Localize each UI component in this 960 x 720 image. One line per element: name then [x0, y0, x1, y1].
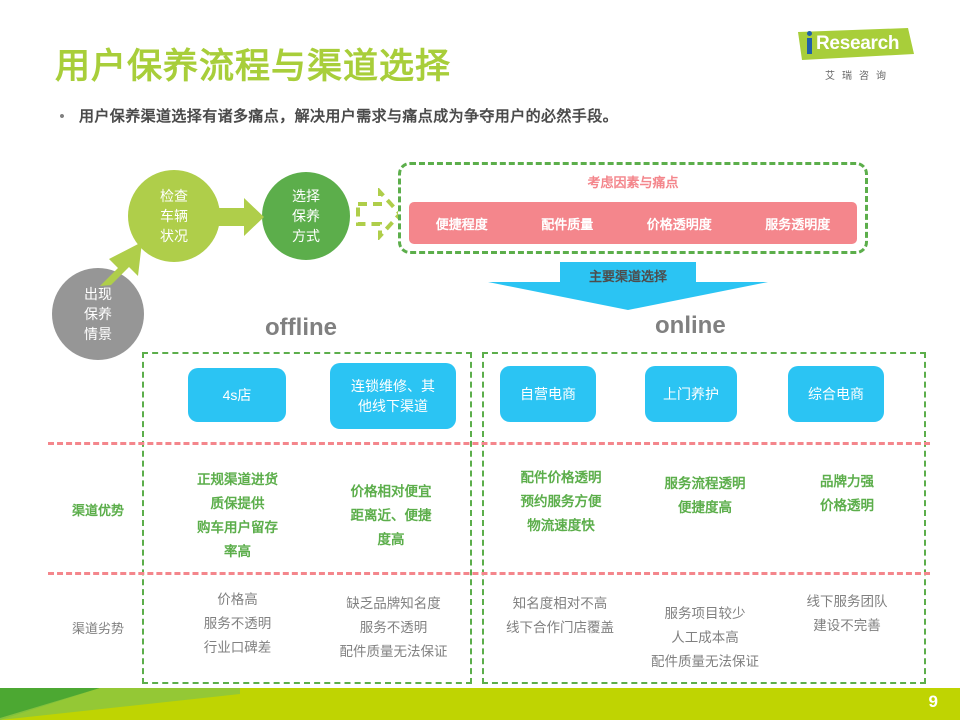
row-divider-advantages-top [48, 442, 930, 445]
consideration-factors-box: 考虑因素与痛点 便捷程度 配件质量 价格透明度 服务透明度 [398, 162, 868, 254]
subtitle-text: 用户保养渠道选择有诸多痛点，解决用户需求与痛点成为争夺用户的必然手段。 [79, 106, 618, 128]
factor-item: 便捷程度 [436, 214, 488, 233]
disadvantage-cell: 线下服务团队建设不完善 [772, 590, 922, 638]
arrow-dashed-right-icon [356, 188, 402, 240]
advantage-cell: 正规渠道进货质保提供购车用户留存率高 [160, 468, 315, 564]
row-label-disadvantages: 渠道劣势 [58, 618, 138, 637]
page-title: 用户保养流程与渠道选择 [55, 38, 451, 89]
channel-box-4s[interactable]: 4s店 [188, 368, 286, 422]
channel-box-comprehensive-label: 综合电商 [808, 384, 864, 404]
channel-box-chain[interactable]: 连锁维修、其他线下渠道 [330, 363, 456, 429]
advantage-cell: 品牌力强价格透明 [772, 470, 922, 518]
factor-item: 价格透明度 [647, 214, 712, 233]
factor-item: 服务透明度 [765, 214, 830, 233]
advantage-cell: 服务流程透明便捷度高 [630, 472, 780, 520]
logo-chinese-name: 艾瑞咨询 [798, 67, 914, 82]
consideration-factors-title: 考虑因素与痛点 [401, 172, 865, 191]
logo-i-stem-icon [807, 38, 812, 54]
main-channel-arrow-label: 主要渠道选择 [488, 266, 768, 285]
factor-item: 配件质量 [541, 214, 593, 233]
channel-box-chain-label: 连锁维修、其他线下渠道 [351, 376, 435, 416]
disadvantage-cell: 知名度相对不高线下合作门店覆盖 [480, 592, 640, 640]
channel-box-4s-label: 4s店 [223, 385, 252, 405]
logo-mark: Research [798, 28, 914, 62]
footer-bar: 9 [0, 688, 960, 720]
channel-box-door-to-door[interactable]: 上门养护 [645, 366, 737, 422]
logo-i-dot-icon [807, 31, 812, 36]
subtitle-row: • 用户保养渠道选择有诸多痛点，解决用户需求与痛点成为争夺用户的必然手段。 [55, 106, 618, 128]
disadvantage-cell: 服务项目较少人工成本高配件质量无法保证 [630, 602, 780, 674]
arrow-right-icon [218, 196, 266, 238]
advantage-cell: 价格相对便宜距离近、便捷度高 [316, 480, 466, 552]
channel-box-comprehensive[interactable]: 综合电商 [788, 366, 884, 422]
flow-circle-choose-label: 选择保养方式 [292, 186, 320, 246]
flow-circle-scenario-label: 出现保养情景 [84, 284, 112, 344]
channel-box-door-to-door-label: 上门养护 [663, 384, 719, 404]
disadvantage-cell: 价格高服务不透明行业口碑差 [160, 588, 315, 660]
disadvantage-cell: 缺乏品牌知名度服务不透明配件质量无法保证 [316, 592, 471, 664]
advantage-cell: 配件价格透明预约服务方便物流速度快 [486, 466, 636, 538]
iresearch-logo: Research 艾瑞咨询 [798, 28, 914, 84]
logo-wordmark: Research [816, 33, 899, 55]
page-number: 9 [929, 692, 938, 712]
flow-circle-inspect-label: 检查车辆状况 [160, 186, 188, 246]
slide-canvas: 用户保养流程与渠道选择 • 用户保养渠道选择有诸多痛点，解决用户需求与痛点成为争… [0, 0, 960, 720]
row-divider-disadvantages-top [48, 572, 930, 575]
footer-accent-shape [0, 688, 240, 720]
main-channel-arrow: 主要渠道选择 [488, 262, 768, 310]
flow-circle-choose: 选择保养方式 [262, 172, 350, 260]
row-label-advantages: 渠道优势 [58, 500, 138, 519]
channel-box-self-operated-label: 自营电商 [520, 384, 576, 404]
section-label-offline: offline [265, 314, 337, 342]
channel-box-self-operated[interactable]: 自营电商 [500, 366, 596, 422]
arrow-diagonal-icon [92, 228, 158, 290]
bullet-icon: • [55, 106, 69, 128]
consideration-factors-strip: 便捷程度 配件质量 价格透明度 服务透明度 [409, 202, 857, 244]
section-label-online: online [655, 312, 726, 340]
